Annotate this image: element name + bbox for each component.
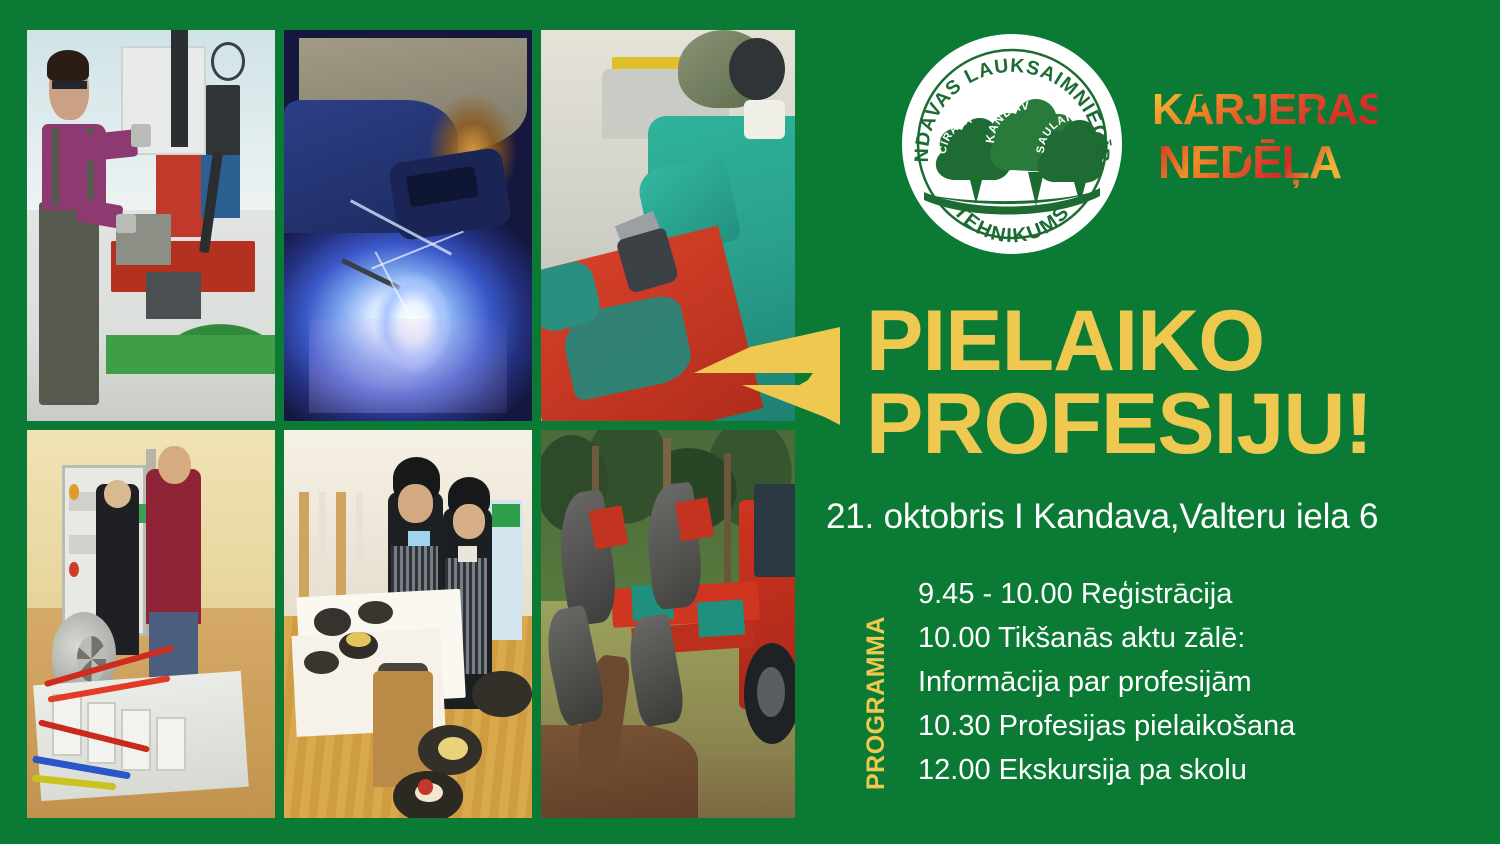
list-item: 10.00 Tikšanās aktu zālē: xyxy=(918,616,1482,660)
page-title: PIELAIKO PROFESIJU! xyxy=(866,300,1500,467)
headline-line-2: PROFESIJU! xyxy=(866,383,1500,466)
nedela-text: NEDĒĻA xyxy=(1158,136,1341,189)
list-item: Informācija par profesijām xyxy=(918,660,1482,704)
photo-electrical: Electrical lab with wiring, contactors a… xyxy=(27,430,275,818)
photo-culinary: Culinary students in chef hats beside ba… xyxy=(284,430,532,818)
photo-welding: Welding with bright blue electric arc xyxy=(284,30,532,421)
karjeras-nedela-logo: KARJERAS NEDĒĻA xyxy=(1152,84,1377,194)
list-item: 12.00 Ekskursija pa skolu xyxy=(918,748,1482,792)
yellow-arrow-graphic xyxy=(690,325,890,435)
logo-row: KANDAVAS LAUKSAIMNIECĪBAS TEHNIKUMS CĪRA… xyxy=(880,22,1480,270)
programme-list: 9.45 - 10.00 Reģistrācija 10.00 Tikšanās… xyxy=(918,572,1482,792)
karjeras-text: KARJERAS xyxy=(1152,85,1377,134)
photo-agriculture: Red plough mounted on tractor ploughing … xyxy=(541,430,795,818)
headline-line-1: PIELAIKO xyxy=(866,293,1264,389)
list-item: 9.45 - 10.00 Reģistrācija xyxy=(918,572,1482,616)
school-logo: KANDAVAS LAUKSAIMNIECĪBAS TEHNIKUMS CĪRA… xyxy=(898,30,1126,258)
photo-collage: Students at drill press in metalworking … xyxy=(27,30,795,818)
photo-metalwork: Students at drill press in metalworking … xyxy=(27,30,275,421)
list-item: 10.30 Profesijas pielaikošana xyxy=(918,704,1482,748)
programme-label: PROGRAMMA xyxy=(862,616,891,790)
date-location: 21. oktobris I Kandava,Valteru iela 6 xyxy=(826,497,1500,537)
programme-block: PROGRAMMA 9.45 - 10.00 Reģistrācija 10.0… xyxy=(862,572,1482,812)
